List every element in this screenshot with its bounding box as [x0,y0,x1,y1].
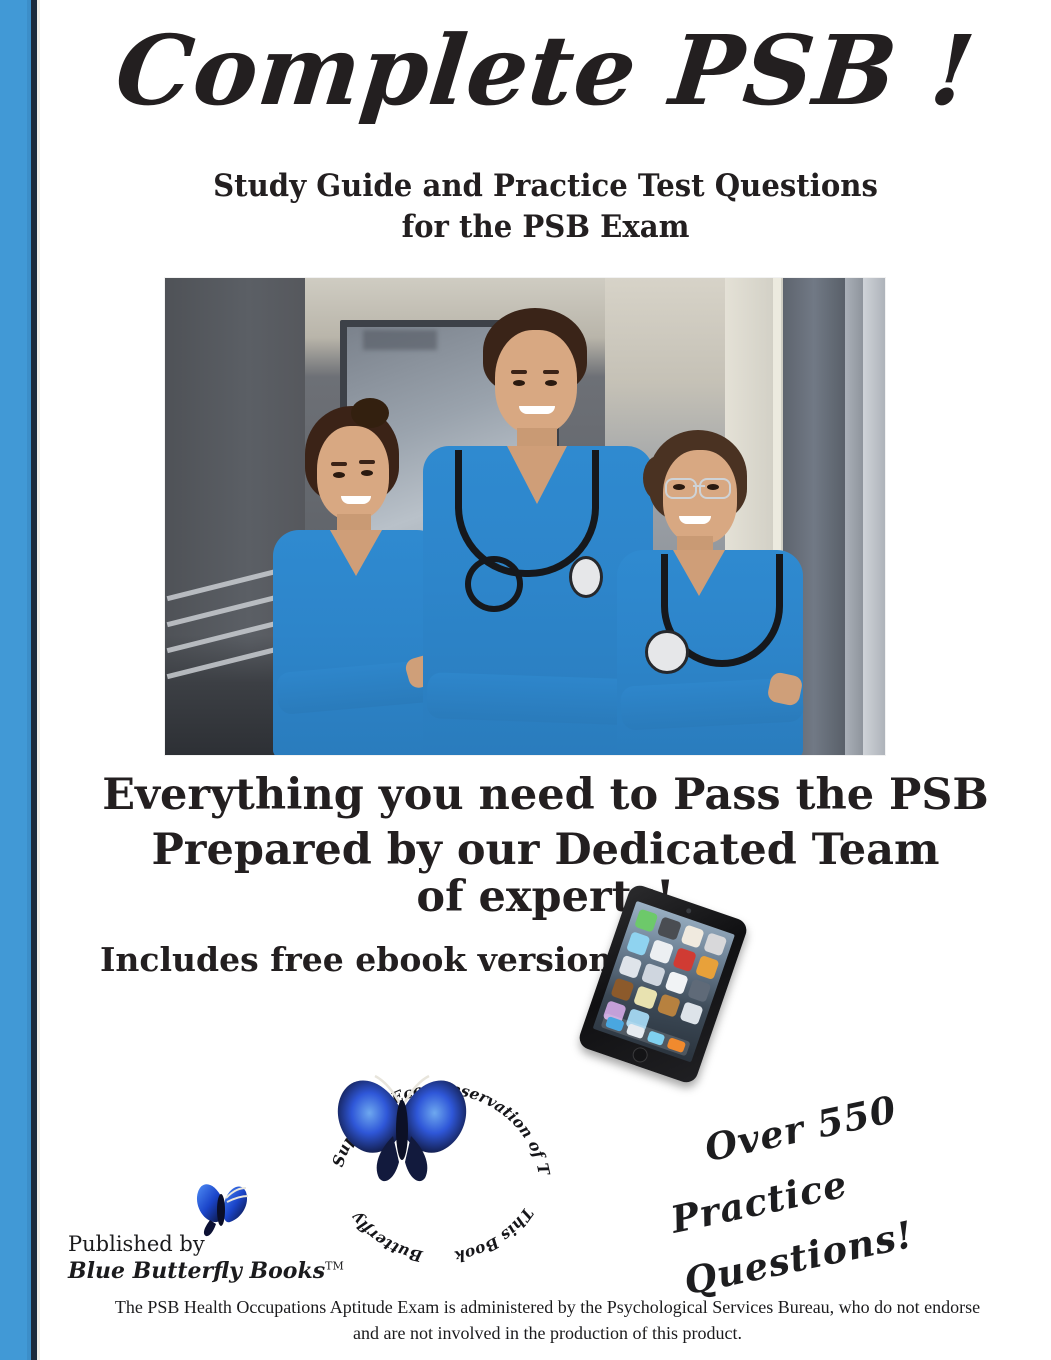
cover-subtitle-line-2: for the PSB Exam [70,207,1020,248]
publisher-butterfly-icon [188,1176,260,1240]
cover-title: Complete PSB ! [34,14,1051,127]
cover-disclaimer: The PSB Health Occupations Aptitude Exam… [55,1295,1040,1346]
tablet-screen [593,901,735,1063]
app-icon [664,970,688,994]
cover-tagline-line-1: Everything you need to Pass the PSB [40,768,1051,823]
disclaimer-line-1: The PSB Health Occupations Aptitude Exam… [55,1295,1040,1321]
publisher-prefix: Published by [68,1232,344,1258]
app-icon [657,916,681,940]
spine-edge-highlight [37,0,40,1360]
publisher-block: Published by Blue Butterfly BooksTM [68,1232,344,1284]
app-icon [641,962,665,986]
app-icon [649,939,673,963]
photo-column-c [845,278,863,755]
photo-column-d [863,278,885,755]
cover-tagline-line-3: of experts! [40,872,1051,922]
app-icon [618,954,642,978]
practice-questions-badge: Over 550 Practice Questions! [652,1060,1014,1313]
disclaimer-line-2: and are not involved in the production o… [55,1321,1040,1347]
app-icon [703,932,727,956]
app-icon [695,955,719,979]
seal-text-lower-right: Butterfly [346,1209,425,1266]
dock-icon [605,1016,624,1032]
app-icon [672,947,696,971]
cover-tagline-line-2: Prepared by our Dedicated Team [40,823,1051,878]
publisher-name: Blue Butterfly Books [68,1258,325,1284]
ebook-note: Includes free ebook version! [100,940,627,979]
app-icon [656,993,680,1017]
tablet-home-button-icon [631,1045,650,1064]
tablet-camera-icon [686,908,692,914]
cover-subtitle: Study Guide and Practice Test Questions … [70,166,1020,248]
karner-blue-butterfly-icon [327,1058,477,1186]
spine-blue-bar [0,0,27,1360]
app-icon [687,978,711,1002]
cover-subtitle-line-1: Study Guide and Practice Test Questions [70,166,1020,207]
app-icon [626,931,650,955]
app-icon [679,1001,703,1025]
dock-icon [667,1037,686,1053]
publisher-trademark: TM [325,1259,344,1272]
cover-tagline: Everything you need to Pass the PSB Prep… [40,768,1051,878]
publisher-name-line: Blue Butterfly BooksTM [68,1258,344,1285]
app-icon [634,909,658,933]
app-icon [610,977,634,1001]
dock-icon [646,1030,665,1046]
app-icon [680,924,704,948]
seal-text-lower: This Book [453,1204,538,1266]
cover-photo [165,278,885,755]
dock-icon [626,1023,645,1039]
book-cover: Complete PSB ! Study Guide and Practice … [0,0,1051,1360]
eco-preservation-seal: Supports Eco-Preservation of The Karner … [327,1058,553,1272]
photo-door-sign [363,330,437,350]
app-icon [633,985,657,1009]
